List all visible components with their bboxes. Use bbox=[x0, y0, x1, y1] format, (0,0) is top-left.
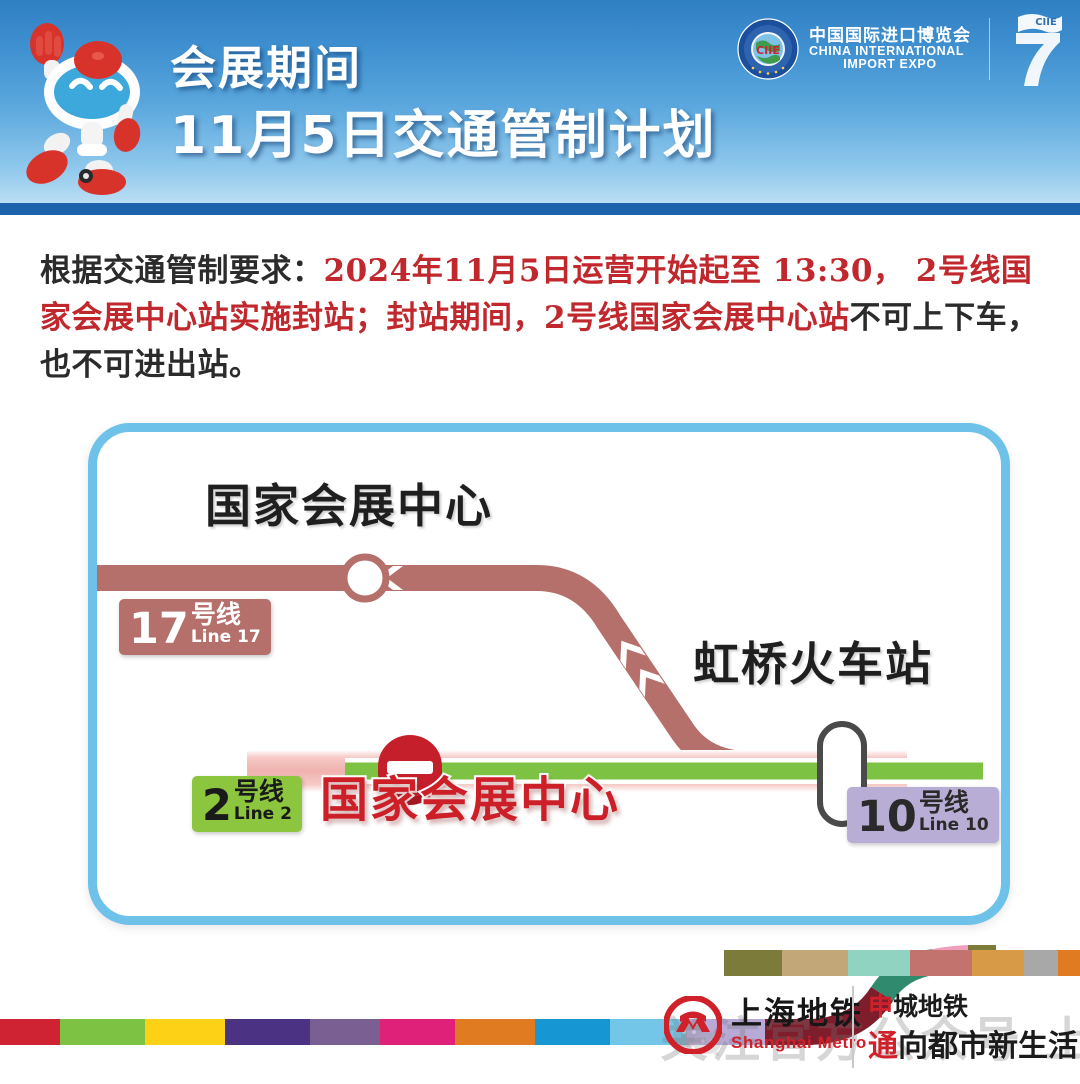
ciie-divider bbox=[989, 18, 990, 80]
ciie-name-en-line1: CHINA INTERNATIONAL bbox=[809, 45, 971, 58]
ciie-mascot-icon bbox=[14, 22, 164, 197]
footer-top-stripe bbox=[0, 944, 1080, 984]
station-label-hongqiao: 虹桥火车站 bbox=[693, 628, 933, 694]
shanghai-metro-name-en: Shanghai Metro bbox=[731, 1034, 867, 1051]
line-2-en: Line 2 bbox=[234, 806, 292, 824]
notice-paragraph: 根据交通管制要求：2024年11月5日运营开始起至 13:30， 2号线国家会展… bbox=[40, 248, 1040, 389]
line-10-en: Line 10 bbox=[919, 817, 989, 835]
footer-divider bbox=[852, 986, 854, 1068]
ciie-name-cn: 中国国际进口博览会 bbox=[809, 27, 971, 45]
slogan-line1-rest: 城地铁 bbox=[893, 992, 968, 1021]
svg-text:CIIE: CIIE bbox=[1035, 17, 1057, 28]
line-17-number: 17 bbox=[129, 609, 189, 650]
station-label-necc-line17: 国家会展中心 bbox=[205, 470, 493, 536]
shanghai-metro-mark-icon bbox=[664, 996, 722, 1054]
header-title-line1: 会展期间 bbox=[170, 44, 717, 94]
ciie-edition-seven-icon: CIIE bbox=[1008, 9, 1068, 89]
slogan-line2-accent: 通 bbox=[868, 1029, 898, 1064]
metro-diagram-panel: 国家会展中心 虹桥火车站 国家会展中心 17 号线 Line 17 2 号线 L… bbox=[88, 423, 1010, 925]
slogan-line2-rest: 向都市新生活 bbox=[898, 1029, 1078, 1064]
station-label-necc-closed: 国家会展中心 bbox=[320, 760, 620, 830]
svg-text:CIIE: CIIE bbox=[756, 44, 780, 57]
slogan-line1-accent: 申 bbox=[868, 992, 893, 1021]
header-title-line2: 11月5日交通管制计划 bbox=[170, 108, 717, 164]
line-badge-10: 10 号线 Line 10 bbox=[847, 787, 999, 843]
header-bottom-bar bbox=[0, 203, 1080, 215]
page-header: 会展期间 11月5日交通管制计划 CIIE 中国国际进口博览会 bbox=[0, 0, 1080, 215]
ciie-logo-lockup: CIIE 中国国际进口博览会 CHINA INTERNATIONAL IMPOR… bbox=[737, 9, 1068, 89]
header-title-block: 会展期间 11月5日交通管制计划 bbox=[170, 44, 717, 164]
line-badge-2: 2 号线 Line 2 bbox=[192, 776, 302, 832]
ciie-wordmark: 中国国际进口博览会 CHINA INTERNATIONAL IMPORT EXP… bbox=[809, 27, 971, 71]
ciie-name-en-line2: IMPORT EXPO bbox=[809, 58, 971, 71]
line-10-number: 10 bbox=[857, 797, 917, 838]
shanghai-metro-logo: 上海地铁 Shanghai Metro bbox=[664, 996, 867, 1054]
line-17-cn: 号线 bbox=[191, 602, 261, 628]
notice-prefix: 根据交通管制要求： bbox=[40, 253, 324, 289]
ciie-seal-icon: CIIE bbox=[737, 18, 799, 80]
line-badge-17: 17 号线 Line 17 bbox=[119, 599, 271, 655]
line-10-cn: 号线 bbox=[919, 790, 989, 816]
line-17-en: Line 17 bbox=[191, 629, 261, 647]
line-2-cn: 号线 bbox=[234, 779, 292, 805]
line-2-number: 2 bbox=[202, 786, 232, 827]
shanghai-metro-name-cn: 上海地铁 bbox=[731, 999, 867, 1030]
footer-slogan: 申城地铁 通向都市新生活 bbox=[868, 992, 1078, 1064]
station-marker-necc-line17 bbox=[344, 557, 386, 599]
